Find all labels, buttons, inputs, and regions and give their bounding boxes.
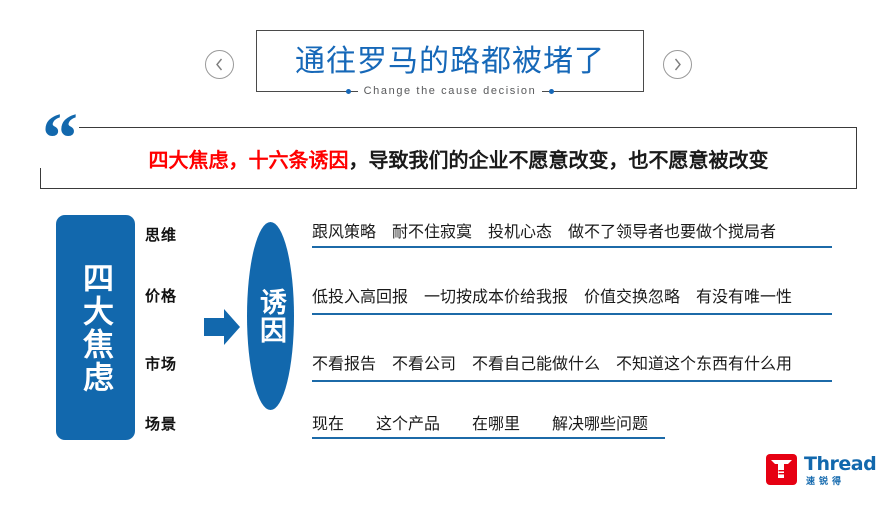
row-underline-thinking (312, 246, 832, 248)
thread-logo-glyph-icon (766, 454, 797, 485)
logo-wordmark: Thread (804, 453, 876, 475)
subtitle-dot-right-icon (549, 89, 554, 94)
slide-canvas: 通往罗马的路都被堵了 Change the cause decision “ 四… (0, 0, 895, 505)
four-anxieties-block: 四大焦虑 (56, 215, 135, 440)
right-arrow-icon (204, 307, 240, 347)
category-label-price: 价格 (145, 285, 205, 306)
row-underline-price (312, 313, 832, 315)
row-items-price: 低投入高回报 一切按成本价给我报 价值交换忽略 有没有唯一性 (312, 283, 792, 307)
quote-highlight-two: 十六条诱因 (249, 144, 349, 173)
logo-chinese-name: 速锐得 (806, 474, 845, 487)
subtitle-dot-left-icon (346, 89, 351, 94)
thread-logo-icon (766, 454, 797, 485)
row-items-thinking: 跟风策略 耐不住寂寞 投机心态 做不了领导者也要做个搅局者 (312, 218, 776, 242)
quote-highlight-one: 四大焦虑 (149, 144, 229, 173)
chevron-right-icon (664, 51, 691, 78)
page-subtitle: Change the cause decision (358, 85, 543, 97)
next-slide-button[interactable] (663, 50, 692, 79)
row-underline-market (312, 380, 832, 382)
company-logo: Thread 速锐得 (766, 452, 878, 490)
quote-rest-text: ，导致我们的企业不愿意改变，也不愿意被改变 (349, 144, 769, 173)
prev-slide-button[interactable] (205, 50, 234, 79)
cause-ellipse-label: 诱因 (247, 222, 294, 410)
chevron-left-icon (206, 51, 233, 78)
quote-highlight-separator: ， (229, 144, 249, 173)
category-label-thinking: 思维 (145, 224, 205, 245)
category-label-scenario: 场景 (145, 413, 205, 434)
category-label-market: 市场 (145, 353, 205, 374)
subtitle-group: Change the cause decision (256, 79, 644, 103)
row-items-scenario: 现在 这个产品 在哪里 解决哪些问题 (312, 410, 648, 434)
quote-statement: 四大焦虑，十六条诱因，导致我们的企业不愿意改变，也不愿意被改变 (60, 127, 857, 189)
row-items-market: 不看报告 不看公司 不看自己能做什么 不知道这个东西有什么用 (312, 350, 792, 374)
row-underline-scenario (312, 437, 665, 439)
